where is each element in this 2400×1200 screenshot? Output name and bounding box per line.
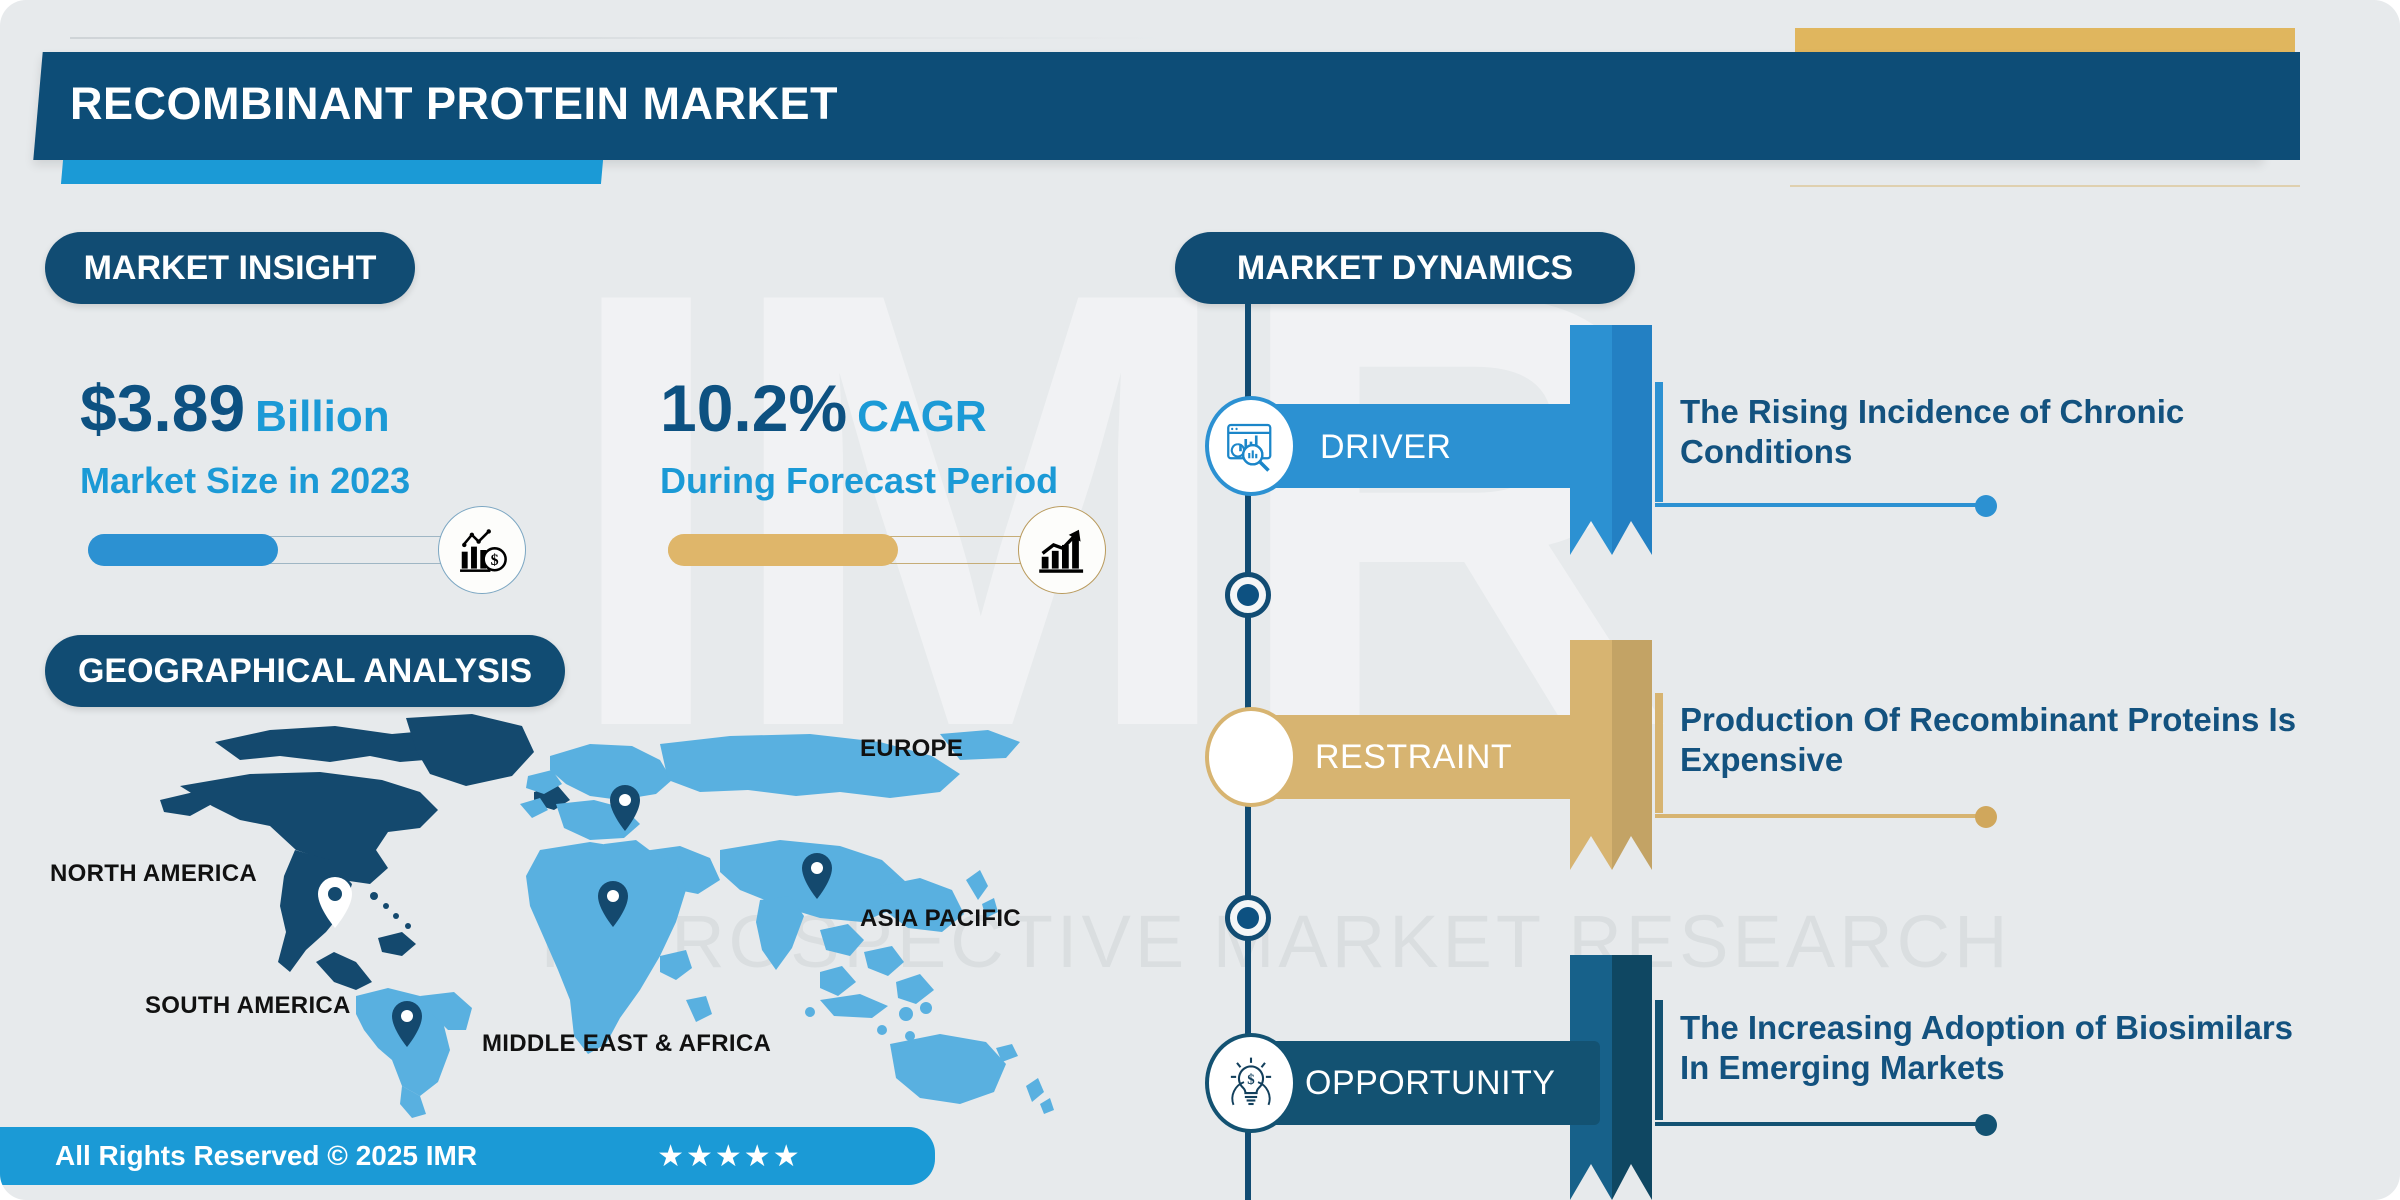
svg-text:$: $: [1247, 1072, 1255, 1088]
svg-text:$: $: [491, 552, 499, 569]
map-label-middle-east-africa: MIDDLE EAST & AFRICA: [482, 1030, 771, 1058]
footer-bar: All Rights Reserved © 2025 IMR ★★★★★: [0, 1127, 935, 1185]
cagr-progress: [668, 528, 1048, 572]
stat-cagr: 10.2%CAGR During Forecast Period: [660, 370, 1180, 502]
market-size-caption: Market Size in 2023: [80, 460, 600, 502]
opportunity-label: OPPORTUNITY: [1305, 1064, 1555, 1103]
map-region-north-america: [160, 714, 570, 990]
header-hairline-left: [70, 37, 1170, 39]
restraint-text-leftbar: [1655, 693, 1663, 813]
infographic-canvas: IMR INTROSPECTIVE MARKET RESEARCH RECOMB…: [0, 0, 2400, 1200]
chip-market-dynamics: MARKET DYNAMICS: [1175, 232, 1635, 304]
cagr-unit: CAGR: [857, 392, 987, 441]
rating-stars: ★★★★★: [657, 1139, 801, 1174]
page-title: RECOMBINANT PROTEIN MARKET: [70, 78, 838, 130]
map-label-north-america: NORTH AMERICA: [50, 860, 257, 888]
chip-market-insight: MARKET INSIGHT: [45, 232, 415, 304]
progress-fill: [668, 534, 898, 566]
opportunity-text: The Increasing Adoption of Biosimilars I…: [1680, 1008, 2300, 1089]
title-accent-bar: [61, 160, 603, 184]
progress-fill: [88, 534, 278, 566]
driver-underline: [1655, 503, 1985, 507]
copyright-text: All Rights Reserved © 2025 IMR: [55, 1140, 477, 1172]
timeline-node-2: [1225, 895, 1271, 941]
opportunity-underline: [1655, 1122, 1985, 1126]
growth-arrow-chart-icon: [1018, 506, 1106, 594]
restraint-underline: [1655, 814, 1985, 818]
opportunity-text-leftbar: [1655, 1000, 1663, 1120]
stat-market-size: $3.89Billion Market Size in 2023: [80, 370, 600, 502]
map-label-europe: EUROPE: [860, 735, 963, 763]
map-label-asia-pacific: ASIA PACIFIC: [860, 905, 1021, 933]
driver-text-leftbar: [1655, 382, 1663, 502]
timeline-node-1: [1225, 572, 1271, 618]
map-label-south-america: SOUTH AMERICA: [145, 992, 351, 1020]
dashboard-magnifier-icon: [1205, 396, 1297, 496]
driver-text: The Rising Incidence of Chronic Conditio…: [1680, 392, 2300, 473]
cagr-value: 10.2%: [660, 371, 847, 445]
market-size-unit: Billion: [255, 392, 389, 441]
driver-label: DRIVER: [1320, 428, 1451, 467]
restraint-label: RESTRAINT: [1315, 738, 1512, 777]
lightbulb-dollar-icon: $: [1205, 1033, 1297, 1133]
header-hairline-right: [1790, 185, 2300, 187]
cagr-caption: During Forecast Period: [660, 460, 1180, 502]
declining-bar-chart-icon: [1205, 707, 1297, 807]
chip-geographical-analysis: GEOGRAPHICAL ANALYSIS: [45, 635, 565, 707]
market-size-progress: $: [88, 528, 468, 572]
bar-chart-dollar-icon: $: [438, 506, 526, 594]
market-size-value: $3.89: [80, 371, 245, 445]
restraint-text: Production Of Recombinant Proteins Is Ex…: [1680, 700, 2300, 781]
